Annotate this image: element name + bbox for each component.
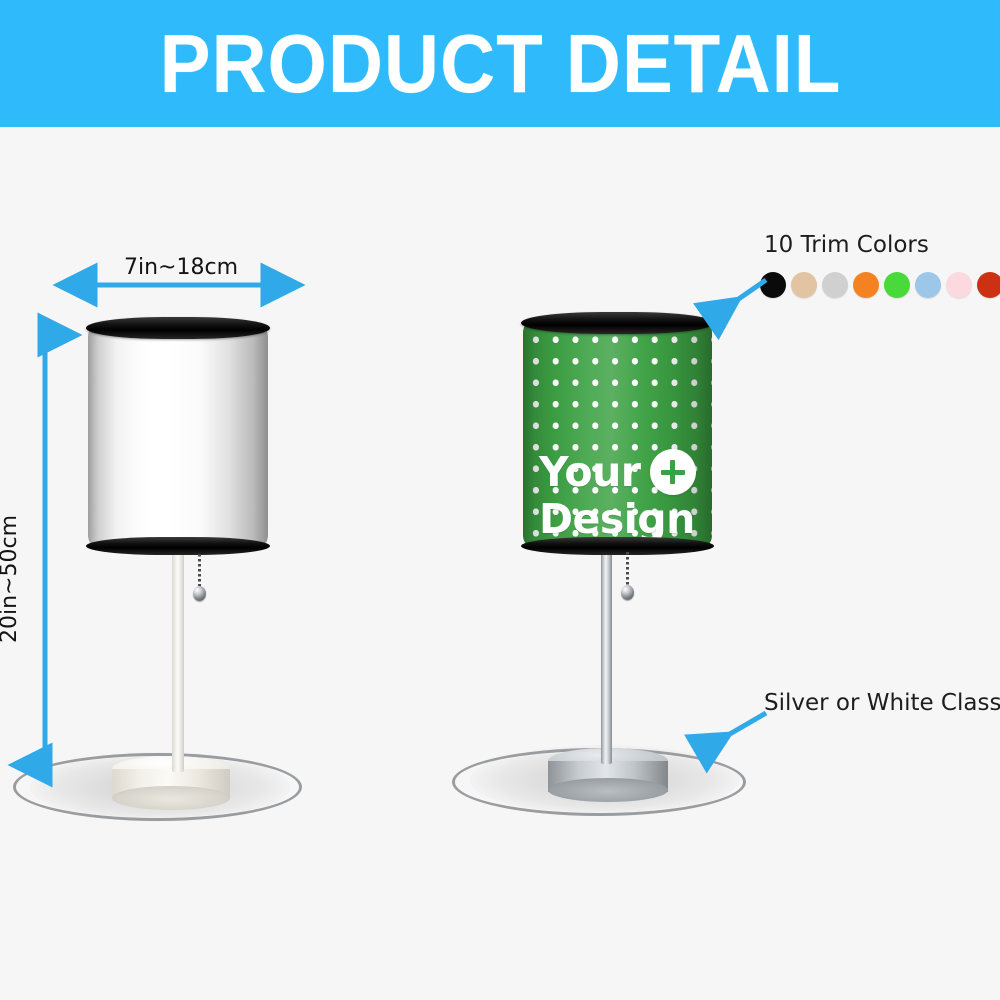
lamp-shade-white bbox=[88, 313, 268, 558]
base-finish-arrow bbox=[690, 705, 780, 765]
shade-trim-bottom-green bbox=[521, 537, 714, 555]
lamp-base-white bbox=[112, 756, 230, 808]
trim-colors-title: 10 Trim Colors bbox=[764, 232, 929, 258]
artwork-word-your: Your bbox=[539, 452, 641, 492]
trim-swatch-green[interactable] bbox=[884, 272, 910, 298]
shade-artwork: Your Design bbox=[539, 449, 696, 539]
base-finish-label: Silver or White Classy bbox=[764, 690, 1000, 716]
shade-trim-top-white bbox=[86, 317, 270, 339]
height-dimension-label: 20in~50cm bbox=[0, 515, 22, 643]
trim-swatch-red[interactable] bbox=[977, 272, 1000, 298]
lamp-shade-green: Your Design bbox=[523, 309, 712, 557]
chain-beads-white bbox=[198, 554, 201, 590]
trim-colors-arrow bbox=[700, 272, 780, 332]
trim-swatch-tan[interactable] bbox=[791, 272, 817, 298]
shade-trim-bottom-white bbox=[86, 537, 270, 555]
artwork-line-1: Your bbox=[539, 449, 696, 495]
artwork-word-design: Design bbox=[539, 499, 695, 539]
trim-swatch-light-blue[interactable] bbox=[915, 272, 941, 298]
lamp-green: Your Design bbox=[430, 0, 790, 1000]
trim-swatch-orange[interactable] bbox=[853, 272, 879, 298]
pull-chain-white[interactable] bbox=[198, 554, 212, 602]
artwork-line-2: Design bbox=[539, 499, 696, 539]
base-bottom-white bbox=[112, 786, 230, 810]
base-bottom-green bbox=[548, 778, 668, 802]
chain-ball-green bbox=[621, 585, 634, 600]
chain-ball-white bbox=[193, 586, 206, 601]
width-dimension-arrow bbox=[80, 270, 280, 300]
product-detail-image: PRODUCT DETAIL bbox=[0, 0, 1000, 1000]
height-dimension-arrow bbox=[30, 325, 60, 775]
trim-swatch-light-gray[interactable] bbox=[822, 272, 848, 298]
lamp-stem-white bbox=[172, 550, 184, 772]
chain-beads-green bbox=[626, 552, 629, 589]
trim-color-swatches[interactable] bbox=[760, 272, 1000, 298]
shade-trim-top-green bbox=[521, 312, 714, 334]
trim-swatch-pink[interactable] bbox=[946, 272, 972, 298]
pull-chain-green[interactable] bbox=[626, 552, 640, 600]
shade-surface-white bbox=[88, 327, 268, 545]
lamp-stem-green bbox=[601, 548, 612, 764]
plus-circle-icon bbox=[650, 449, 696, 495]
